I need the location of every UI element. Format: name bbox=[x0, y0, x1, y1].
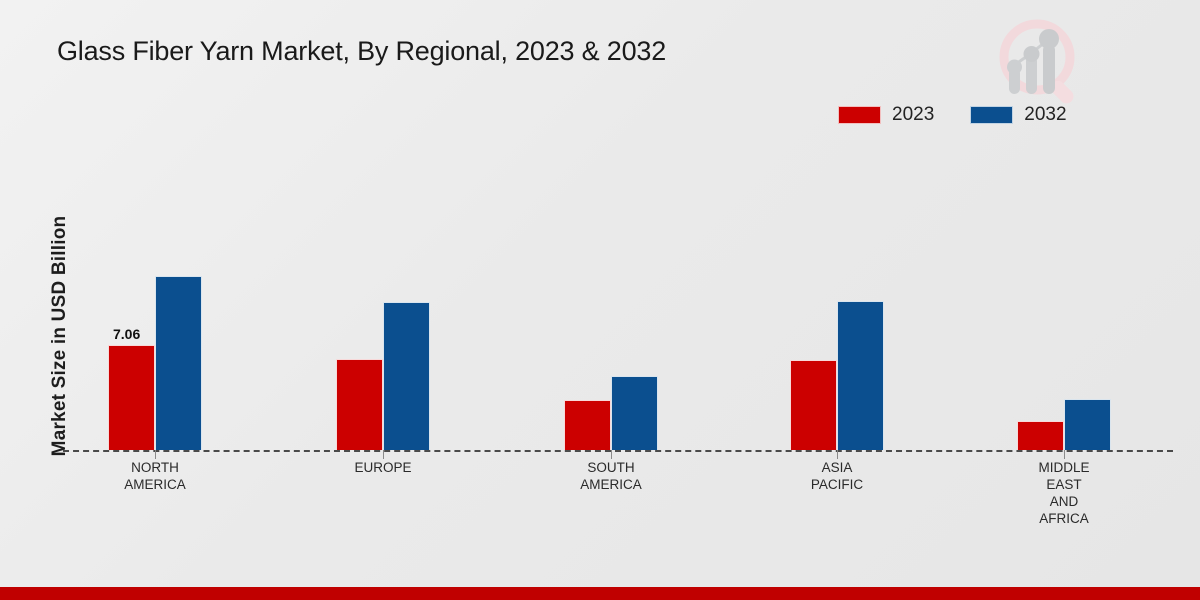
x-tick-europe bbox=[383, 450, 384, 459]
x-tick-middle-east-and-africa bbox=[1064, 450, 1065, 459]
bar-group-south-america: SOUTH AMERICA bbox=[564, 0, 658, 560]
x-tick-south-america bbox=[611, 450, 612, 459]
plot-area: 7.06 NORTH AMERICA EUROPE SOUTH AMERICA bbox=[0, 0, 1200, 600]
x-label-line: AND bbox=[969, 493, 1159, 510]
x-tick-asia-pacific bbox=[837, 450, 838, 459]
bar-south-america-2032[interactable] bbox=[611, 376, 658, 450]
x-label-line: AMERICA bbox=[516, 476, 706, 493]
x-tick-north-america bbox=[155, 450, 156, 459]
bar-asia-pacific-2023[interactable] bbox=[790, 360, 837, 450]
bar-south-america-2023[interactable] bbox=[564, 400, 611, 450]
x-label-line: ASIA bbox=[742, 459, 932, 476]
x-label-middle-east-and-africa: MIDDLE EAST AND AFRICA bbox=[969, 459, 1159, 527]
data-label-north-america-2023: 7.06 bbox=[113, 326, 140, 342]
x-label-line: AFRICA bbox=[969, 510, 1159, 527]
x-label-asia-pacific: ASIA PACIFIC bbox=[742, 459, 932, 493]
bars-middle-east-and-africa bbox=[1017, 0, 1111, 450]
x-label-line: NORTH bbox=[60, 459, 250, 476]
x-label-line: SOUTH bbox=[516, 459, 706, 476]
bar-europe-2023[interactable] bbox=[336, 359, 383, 450]
bar-asia-pacific-2032[interactable] bbox=[837, 301, 884, 450]
bars-europe bbox=[336, 0, 430, 450]
bar-europe-2032[interactable] bbox=[383, 302, 430, 450]
x-label-europe: EUROPE bbox=[288, 459, 478, 476]
bar-group-europe: EUROPE bbox=[336, 0, 430, 560]
x-label-line: PACIFIC bbox=[742, 476, 932, 493]
x-label-line: EAST bbox=[969, 476, 1159, 493]
bars-north-america: 7.06 bbox=[108, 0, 202, 450]
x-label-north-america: NORTH AMERICA bbox=[60, 459, 250, 493]
bar-north-america-2023[interactable] bbox=[108, 345, 155, 450]
bar-group-middle-east-and-africa: MIDDLE EAST AND AFRICA bbox=[1017, 0, 1111, 560]
bars-south-america bbox=[564, 0, 658, 450]
x-label-south-america: SOUTH AMERICA bbox=[516, 459, 706, 493]
bar-group-asia-pacific: ASIA PACIFIC bbox=[790, 0, 884, 560]
x-label-line: EUROPE bbox=[288, 459, 478, 476]
bars-asia-pacific bbox=[790, 0, 884, 450]
bar-middle-east-and-africa-2023[interactable] bbox=[1017, 421, 1064, 450]
bottom-accent-bar bbox=[0, 587, 1200, 600]
x-label-line: MIDDLE bbox=[969, 459, 1159, 476]
bar-north-america-2032[interactable] bbox=[155, 276, 202, 450]
bar-group-north-america: 7.06 NORTH AMERICA bbox=[108, 0, 202, 560]
x-label-line: AMERICA bbox=[60, 476, 250, 493]
bar-middle-east-and-africa-2032[interactable] bbox=[1064, 399, 1111, 450]
